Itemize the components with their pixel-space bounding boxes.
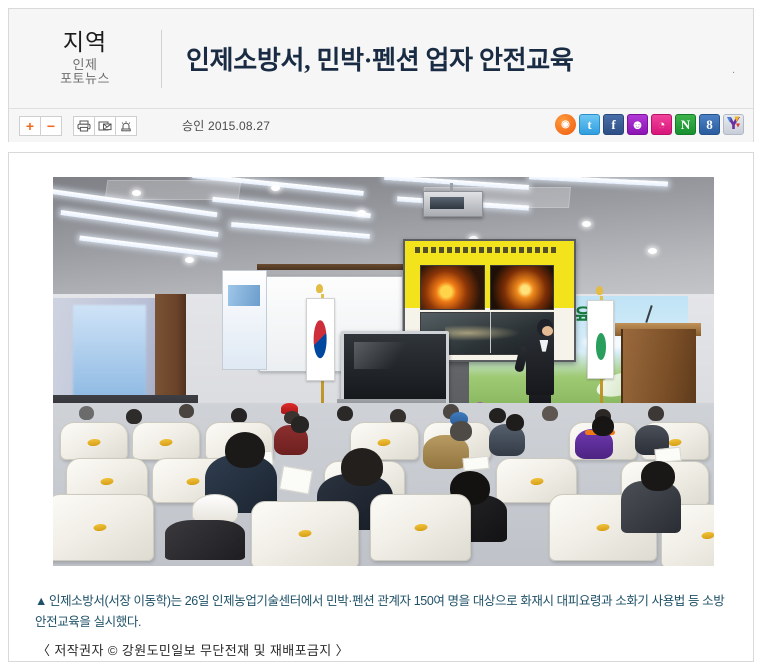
approval-label: 승인 bbox=[182, 119, 204, 133]
printer-icon bbox=[77, 120, 91, 132]
attendee-head bbox=[506, 414, 524, 431]
page-title: 인제소방서, 민박·펜션 업자 안전교육 bbox=[186, 40, 573, 77]
presenter-face bbox=[542, 326, 553, 336]
whiteboard-rail bbox=[257, 264, 405, 270]
article-photo[interactable]: 20 육 bbox=[53, 177, 714, 566]
photo-scene: 20 육 bbox=[53, 177, 714, 566]
email-icon bbox=[98, 120, 112, 132]
slide-divider bbox=[490, 312, 491, 352]
google-icon: 8 bbox=[706, 117, 713, 133]
email-button[interactable] bbox=[94, 116, 116, 136]
header-title-row: 지역 인제 포토뉴스 인제소방서, 민박·펜션 업자 안전교육 . bbox=[9, 9, 753, 108]
attendee-head bbox=[79, 406, 94, 420]
article-page: 지역 인제 포토뉴스 인제소방서, 민박·펜션 업자 안전교육 . + − bbox=[0, 0, 764, 670]
approval-date: 승인 2015.08.27 bbox=[182, 117, 270, 134]
attendee-head bbox=[641, 461, 675, 491]
share-google-button[interactable]: 8 bbox=[699, 114, 720, 135]
header-trailing-dot: . bbox=[732, 65, 735, 76]
attendee-head bbox=[126, 409, 142, 424]
attendee-head bbox=[450, 421, 472, 441]
ceiling-projector bbox=[423, 191, 483, 217]
chair bbox=[132, 422, 200, 460]
city-flag-finial bbox=[596, 286, 603, 295]
caption-text: 인제소방서(서장 이동학)는 26일 인제농업기술센터에서 민박·펜션 관계자 … bbox=[35, 594, 724, 630]
attendee-head bbox=[231, 408, 247, 423]
kicker-category-label: 포토뉴스 bbox=[13, 72, 157, 87]
chair bbox=[53, 494, 154, 561]
chair bbox=[251, 501, 359, 566]
attendee-head bbox=[337, 406, 353, 421]
share-yahoo-button[interactable] bbox=[723, 114, 744, 135]
report-button[interactable] bbox=[115, 116, 137, 136]
chair bbox=[370, 494, 471, 561]
share-me2day-button[interactable]: ◉ bbox=[555, 114, 576, 135]
kicker-region-label: 인제 bbox=[13, 58, 157, 73]
social-share-buttons: ◉ t f ☻ ◔ N 8 bbox=[555, 114, 744, 135]
share-daum-button[interactable]: ◔ bbox=[651, 114, 672, 135]
share-naver-button[interactable]: N bbox=[675, 114, 696, 135]
handout-paper bbox=[279, 466, 313, 495]
slide-fire-photo-2 bbox=[490, 265, 554, 310]
font-increase-button[interactable]: + bbox=[19, 116, 41, 136]
attendee-head bbox=[489, 408, 506, 423]
city-flag bbox=[587, 300, 614, 380]
facebook-icon: f bbox=[611, 117, 615, 133]
korean-flag-finial bbox=[316, 284, 323, 293]
share-kakaostory-button[interactable]: ☻ bbox=[627, 114, 648, 135]
font-size-controls: + − bbox=[19, 116, 61, 136]
standing-banner bbox=[222, 270, 267, 369]
copyright-notice: 〈 저작권자 © 강원도민일보 무단전재 및 재배포금지 〉 bbox=[37, 640, 349, 659]
tv-monitor bbox=[341, 331, 449, 405]
article-body: 20 육 bbox=[8, 152, 754, 662]
kakaostory-icon: ☻ bbox=[631, 117, 645, 133]
attendee-head bbox=[592, 416, 614, 436]
attendee-head bbox=[291, 416, 309, 433]
attendee-head bbox=[179, 404, 194, 418]
daum-icon: ◔ bbox=[658, 117, 666, 133]
approval-date-value: 2015.08.27 bbox=[208, 119, 270, 133]
kicker-section-label: 지역 bbox=[13, 30, 157, 56]
print-button[interactable] bbox=[73, 116, 95, 136]
attendee-head bbox=[542, 406, 558, 421]
wooden-podium bbox=[621, 329, 696, 411]
header-divider bbox=[161, 30, 162, 88]
handout-paper bbox=[462, 455, 489, 471]
twitter-icon: t bbox=[587, 117, 591, 133]
caption-marker: ▲ bbox=[35, 594, 47, 608]
slide-title-text bbox=[415, 247, 557, 253]
slide-fire-photo-1 bbox=[420, 265, 484, 310]
naver-icon: N bbox=[681, 117, 690, 133]
siren-icon bbox=[119, 120, 133, 132]
attendee-head bbox=[225, 432, 265, 468]
article-header: 지역 인제 포토뉴스 인제소방서, 민박·펜션 업자 안전교육 . + − bbox=[8, 8, 754, 142]
presenter-body bbox=[526, 333, 554, 395]
article-toolbar: + − bbox=[9, 108, 753, 142]
share-facebook-button[interactable]: f bbox=[603, 114, 624, 135]
section-kicker[interactable]: 지역 인제 포토뉴스 bbox=[9, 30, 157, 87]
attendee-with-white-hat bbox=[165, 520, 245, 560]
attendee-head bbox=[648, 406, 664, 421]
me2day-icon: ◉ bbox=[561, 119, 570, 130]
attendee-head bbox=[341, 448, 383, 486]
chair bbox=[60, 422, 128, 460]
korean-flag bbox=[306, 298, 336, 382]
audience-seating bbox=[53, 403, 714, 566]
photo-caption: ▲인제소방서(서장 이동학)는 26일 인제농업기술센터에서 민박·펜션 관계자… bbox=[35, 591, 735, 634]
article-actions bbox=[73, 116, 136, 136]
font-decrease-button[interactable]: − bbox=[40, 116, 62, 136]
share-twitter-button[interactable]: t bbox=[579, 114, 600, 135]
yahoo-icon bbox=[725, 114, 742, 135]
